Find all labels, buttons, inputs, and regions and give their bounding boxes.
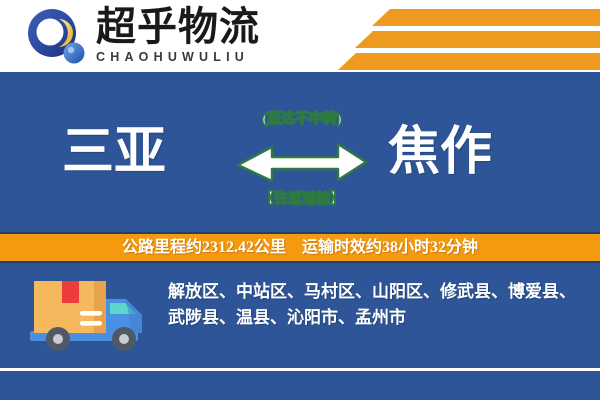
speed-stripes-icon — [330, 0, 600, 72]
brand-name-cn: 超乎物流 — [96, 6, 276, 48]
coverage-panel: 解放区、中站区、马村区、山阳区、修武县、博爱县、武陟县、温县、沁阳市、孟州市 — [0, 263, 600, 368]
coverage-districts-list: 解放区、中站区、马村区、山阳区、修武县、博爱县、武陟县、温县、沁阳市、孟州市 — [168, 279, 586, 331]
double-arrow-icon — [232, 138, 372, 186]
distance-label: 公路里程约2312.42公里 — [122, 239, 286, 257]
circle-crescent-logo-icon — [26, 8, 88, 66]
route-arrow-block: (直达不中转) 【往返运输】 — [232, 86, 372, 220]
brand-name-en: CHAOHUWULIU — [96, 50, 276, 64]
direct-shipping-note: (直达不中转) — [232, 112, 372, 128]
brand-text-block: 超乎物流 CHAOHUWULIU — [96, 6, 276, 64]
duration-label: 运输时效约38小时32分钟 — [302, 239, 478, 257]
destination-city: 焦作 — [388, 125, 492, 181]
origin-city: 三亚 — [62, 125, 166, 181]
delivery-truck-icon — [22, 273, 154, 359]
route-panel: 三亚 (直达不中转) 【往返运输】 焦作 — [0, 74, 600, 232]
footer-strip — [0, 371, 600, 400]
brand-header: 超乎物流 CHAOHUWULIU — [0, 0, 600, 72]
round-trip-note: 【往返运输】 — [232, 192, 372, 208]
route-info-bar: 公路里程约2312.42公里 运输时效约38小时32分钟 — [0, 232, 600, 263]
logistics-route-banner: 超乎物流 CHAOHUWULIU 三亚 (直达不中转) 【往返运输】 焦作 — [0, 0, 600, 400]
